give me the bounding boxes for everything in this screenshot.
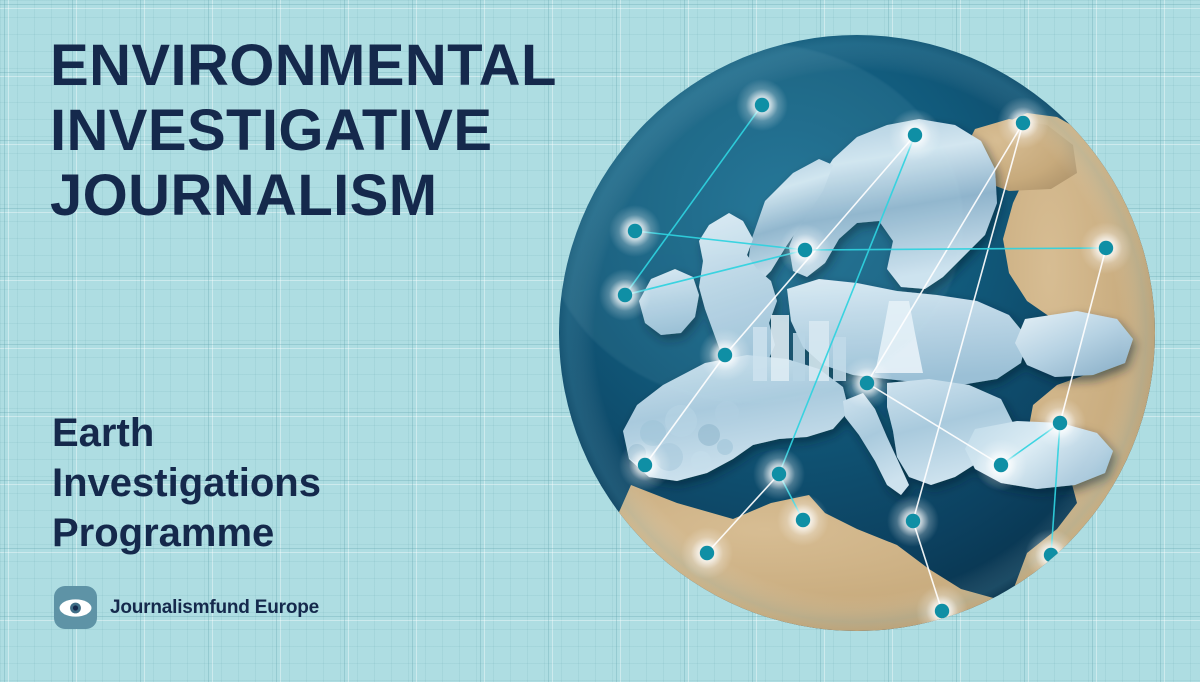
node-algeria[interactable]: [681, 527, 733, 579]
node-north-atlantic[interactable]: [736, 79, 788, 131]
node-caucasus[interactable]: [1034, 397, 1086, 449]
node-western-med[interactable]: [753, 448, 805, 500]
node-dot[interactable]: [1099, 241, 1113, 255]
node-dot[interactable]: [700, 546, 714, 560]
node-dot[interactable]: [628, 224, 642, 238]
node-dot[interactable]: [796, 513, 810, 527]
organisation-logo[interactable]: Journalismfund Europe: [54, 586, 319, 629]
node-dot[interactable]: [1053, 416, 1067, 430]
node-dot[interactable]: [906, 514, 920, 528]
node-dot[interactable]: [935, 604, 949, 618]
node-central-med[interactable]: [887, 495, 939, 547]
node-dot[interactable]: [755, 98, 769, 112]
node-turkey[interactable]: [975, 439, 1027, 491]
node-northern-russia[interactable]: [997, 97, 1049, 149]
node-east-russia[interactable]: [1080, 222, 1132, 274]
node-cyprus[interactable]: [1025, 529, 1077, 581]
node-dot[interactable]: [994, 458, 1008, 472]
eye-icon: [54, 586, 97, 629]
node-ireland[interactable]: [599, 269, 651, 321]
node-dot[interactable]: [908, 128, 922, 142]
node-balkans[interactable]: [841, 357, 893, 409]
programme-subtitle: Earth Investigations Programme: [52, 408, 532, 558]
europe-globe-illustration: [557, 33, 1157, 633]
node-dot[interactable]: [798, 243, 812, 257]
node-denmark[interactable]: [779, 224, 831, 276]
page-title: Environmental Investigative Journalism: [50, 34, 610, 229]
globe-svg: [557, 33, 1157, 633]
node-scandinavia[interactable]: [889, 109, 941, 161]
node-dot[interactable]: [638, 458, 652, 472]
node-france[interactable]: [699, 329, 751, 381]
node-dot[interactable]: [718, 348, 732, 362]
logo-wordmark: Journalismfund Europe: [110, 597, 319, 619]
node-dot[interactable]: [772, 467, 786, 481]
poster-canvas: Environmental Investigative Journalism E…: [0, 0, 1200, 682]
node-dot[interactable]: [1044, 548, 1058, 562]
node-iberia[interactable]: [619, 439, 671, 491]
node-dot[interactable]: [860, 376, 874, 390]
node-dot[interactable]: [618, 288, 632, 302]
node-dot[interactable]: [1016, 116, 1030, 130]
node-west-atlantic[interactable]: [609, 205, 661, 257]
node-tunisia[interactable]: [777, 494, 829, 546]
